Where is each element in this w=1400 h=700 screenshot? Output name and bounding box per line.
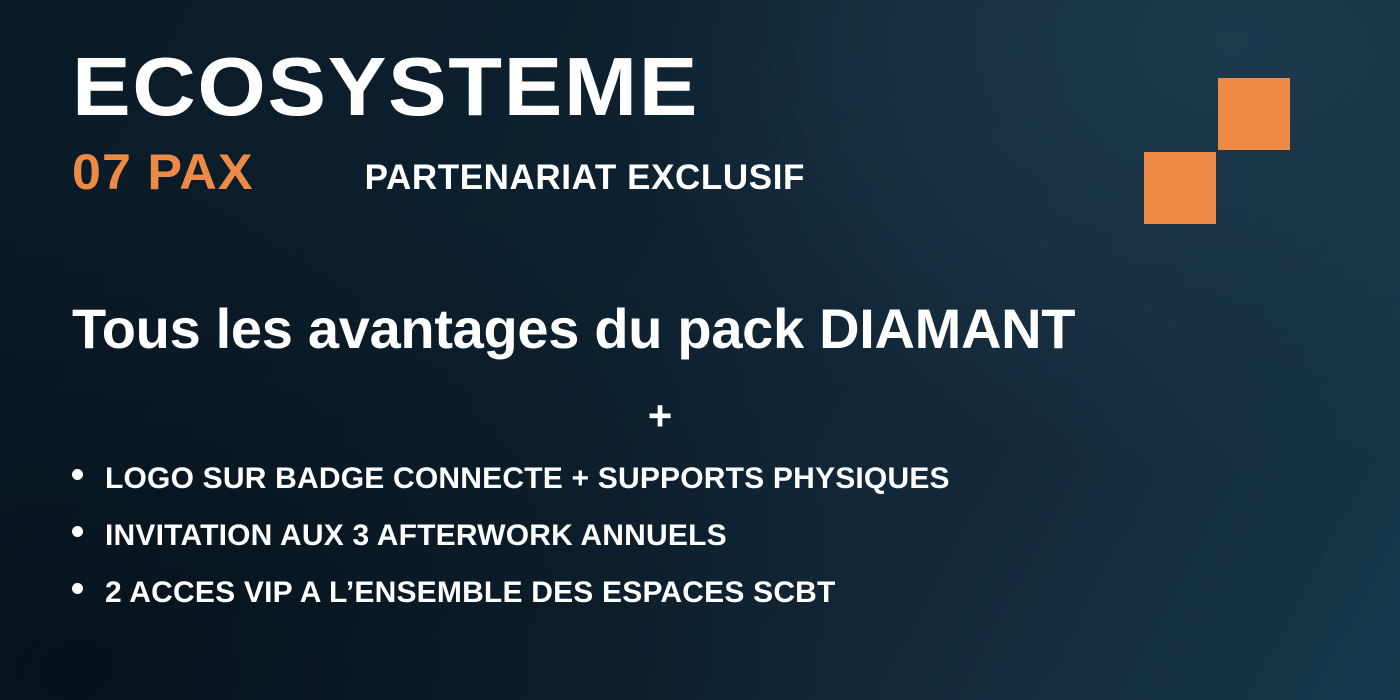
sponsorship-tier-slide: ECOSYSTEME 07 PAX PARTENARIAT EXCLUSIF T… [0, 0, 1400, 700]
list-item: LOGO SUR BADGE CONNECTE + SUPPORTS PHYSI… [72, 462, 950, 496]
orange-square-top-right-icon [1218, 78, 1290, 150]
plus-symbol: + [0, 392, 1320, 440]
list-item: INVITATION AUX 3 AFTERWORK ANNUELS [72, 519, 950, 553]
slide-content: ECOSYSTEME 07 PAX PARTENARIAT EXCLUSIF T… [0, 0, 1400, 700]
header-subline: 07 PAX PARTENARIAT EXCLUSIF [72, 143, 805, 201]
decorative-squares [1144, 78, 1290, 224]
headline: Tous les avantages du pack DIAMANT [72, 296, 1328, 361]
orange-square-bottom-left-icon [1144, 152, 1216, 224]
bullet-icon [72, 469, 83, 480]
bullet-icon [72, 583, 83, 594]
slide-header: ECOSYSTEME 07 PAX PARTENARIAT EXCLUSIF [72, 46, 805, 201]
bullet-icon [72, 526, 83, 537]
partnership-label: PARTENARIAT EXCLUSIF [365, 158, 805, 198]
benefit-text: INVITATION AUX 3 AFTERWORK ANNUELS [105, 519, 727, 553]
page-title: ECOSYSTEME [72, 46, 849, 127]
list-item: 2 ACCES VIP A L’ENSEMBLE DES ESPACES SCB… [72, 576, 950, 610]
pax-badge: 07 PAX [72, 143, 254, 201]
benefit-text: LOGO SUR BADGE CONNECTE + SUPPORTS PHYSI… [105, 462, 950, 496]
benefit-text: 2 ACCES VIP A L’ENSEMBLE DES ESPACES SCB… [105, 576, 836, 610]
benefits-list: LOGO SUR BADGE CONNECTE + SUPPORTS PHYSI… [72, 462, 950, 633]
